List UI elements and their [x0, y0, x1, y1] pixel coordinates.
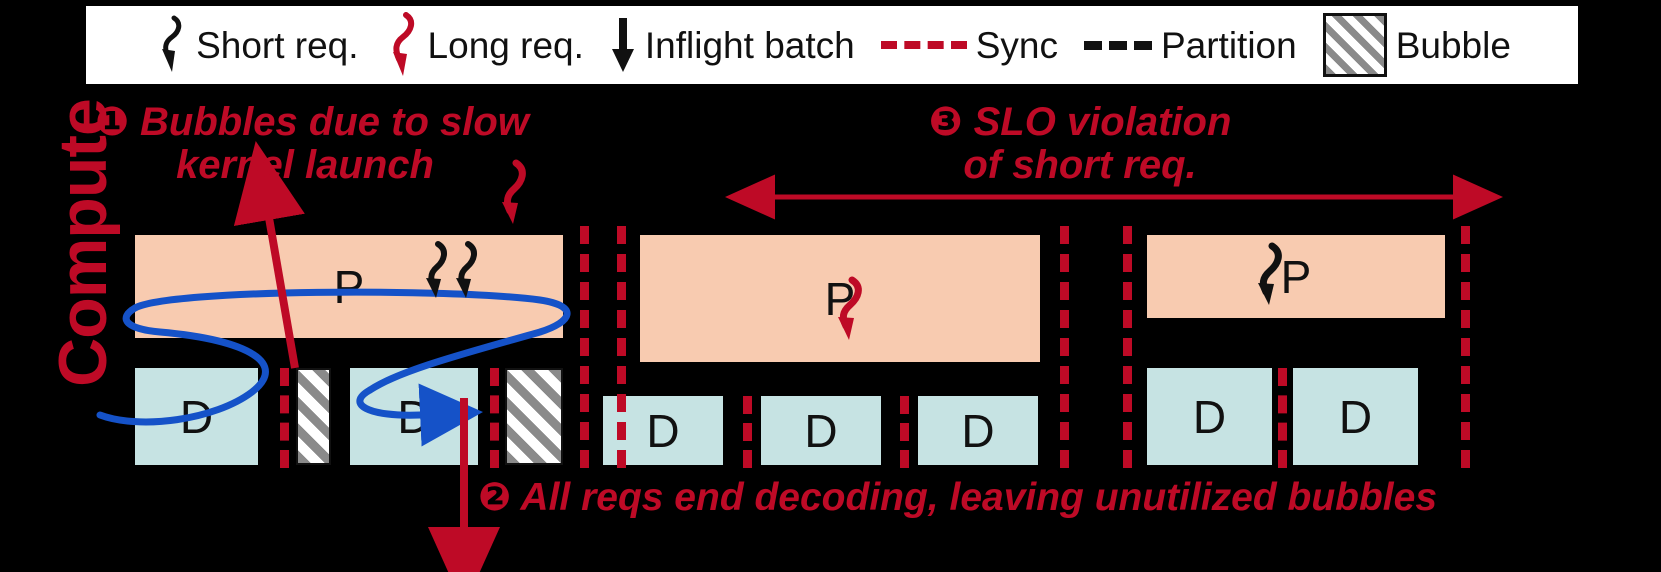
legend-label-partition: Partition	[1161, 27, 1297, 64]
short-req-squiggle-icon	[153, 15, 187, 75]
annotation-3-text-line-2: of short req.	[880, 144, 1280, 187]
sync-line-7	[1060, 226, 1069, 468]
legend-label-sync: Sync	[976, 27, 1058, 64]
legend-item-inflight-batch: Inflight batch	[610, 16, 855, 74]
legend-label-short-req: Short req.	[196, 27, 358, 64]
prefill-block-1[interactable]: P	[135, 235, 563, 338]
legend-label-bubble: Bubble	[1396, 27, 1511, 64]
prefill-block-label: P	[825, 276, 856, 322]
annotation-1-marker: ❶	[95, 100, 129, 144]
decode-block-5[interactable]: D	[918, 396, 1038, 465]
legend-label-inflight-batch: Inflight batch	[645, 27, 855, 64]
legend-item-bubble: Bubble	[1323, 13, 1511, 77]
sync-dashed-line-icon	[881, 41, 967, 49]
decode-block-6[interactable]: D	[1147, 368, 1272, 465]
decode-block-label: D	[1193, 394, 1226, 440]
legend-item-long-req: Long req.	[385, 12, 584, 78]
annotation-1-line-1: ❶ Bubbles due to slow	[95, 101, 515, 144]
sync-line-3	[580, 226, 589, 468]
bubble-block-2	[505, 368, 563, 465]
sync-line-2	[490, 368, 499, 468]
annotation-3-line-1: ❸ SLO violation	[880, 101, 1280, 144]
figure-root: Short req. Long req. Inflight batch	[0, 0, 1661, 572]
decode-block-2[interactable]: D	[350, 368, 478, 465]
prefill-block-3[interactable]: P	[1147, 235, 1445, 318]
decode-block-label: D	[646, 408, 679, 454]
legend-bar: Short req. Long req. Inflight batch	[86, 6, 1578, 84]
decode-block-1[interactable]: D	[135, 368, 258, 465]
decode-block-label: D	[804, 408, 837, 454]
legend-item-sync: Sync	[881, 27, 1058, 64]
sync-line-9	[1278, 368, 1287, 468]
prefill-block-label: P	[334, 264, 365, 310]
prefill-block-label: P	[1281, 254, 1312, 300]
annotation-2-text: ❷ All reqs end decoding, leaving unutili…	[478, 477, 1437, 519]
sync-line-8	[1123, 226, 1132, 468]
legend-item-partition: Partition	[1084, 27, 1297, 64]
decode-block-7[interactable]: D	[1293, 368, 1418, 465]
legend-item-short-req: Short req.	[153, 15, 358, 75]
annotation-2-marker: ❷	[478, 476, 511, 519]
bubble-block-1	[296, 368, 331, 465]
sync-line-10	[1461, 226, 1470, 468]
decode-block-4[interactable]: D	[761, 396, 881, 465]
decode-block-label: D	[1339, 394, 1372, 440]
sync-line-1	[280, 368, 289, 468]
annotation-3-text: ❸ SLO violation of short req.	[880, 101, 1280, 187]
annotation-1-text-line-1: Bubbles due to slow	[140, 100, 529, 144]
partition-dashed-line-icon	[1084, 41, 1152, 50]
annotation-1-text-line-2: kernel launch	[95, 144, 515, 187]
sync-line-4	[617, 226, 626, 468]
annotation-2-text-body: All reqs end decoding, leaving unutilize…	[520, 476, 1437, 519]
inflight-batch-down-arrow-icon	[610, 16, 636, 74]
decode-block-label: D	[180, 394, 213, 440]
annotation-3-text-line-1: SLO violation	[974, 100, 1232, 144]
bubble-hatch-swatch-icon	[1323, 13, 1387, 77]
sync-line-5	[743, 396, 752, 468]
legend-label-long-req: Long req.	[428, 27, 584, 64]
annotation-1-text: ❶ Bubbles due to slow kernel launch	[95, 101, 515, 187]
long-req-squiggle-icon	[385, 12, 419, 78]
prefill-block-2[interactable]: P	[640, 235, 1040, 362]
sync-line-6	[900, 396, 909, 468]
decode-block-label: D	[961, 408, 994, 454]
decode-block-label: D	[397, 394, 430, 440]
annotation-3-marker: ❸	[929, 100, 963, 144]
